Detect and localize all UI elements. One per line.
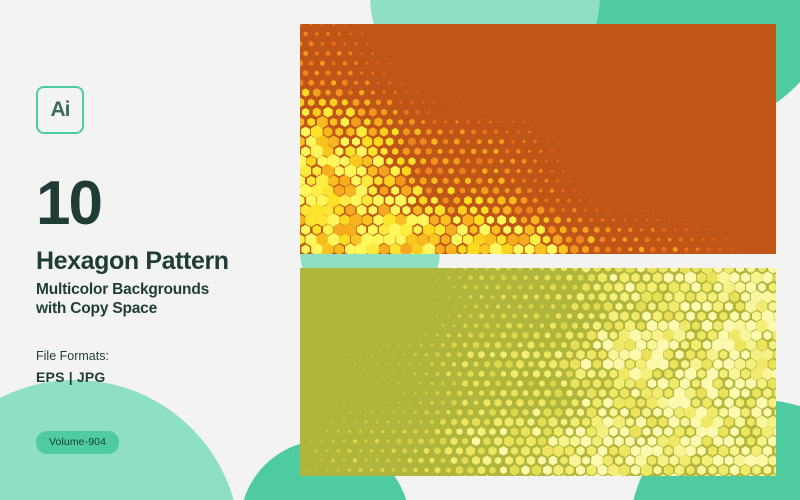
- poster-canvas: Ai 10 Hexagon Pattern Multicolor Backgro…: [0, 0, 800, 500]
- volume-badge: Volume-904: [36, 431, 119, 454]
- page-subtitle: Multicolor Backgrounds with Copy Space: [36, 281, 286, 319]
- illustrator-file-icon-label: Ai: [51, 98, 70, 122]
- hexagon-halftone-olive: [300, 268, 776, 476]
- page-subtitle-line-2: with Copy Space: [36, 300, 286, 319]
- hexagon-pattern-preview-olive: [300, 268, 776, 476]
- file-formats-value: EPS | JPG: [36, 369, 286, 385]
- illustrator-file-icon: Ai: [36, 86, 84, 134]
- page-title: Hexagon Pattern: [36, 248, 286, 274]
- page-subtitle-line-1: Multicolor Backgrounds: [36, 281, 286, 300]
- item-count: 10: [36, 176, 286, 232]
- hexagon-pattern-preview-orange: [300, 24, 776, 254]
- file-formats-label: File Formats:: [36, 349, 286, 363]
- info-column: Ai 10 Hexagon Pattern Multicolor Backgro…: [36, 86, 286, 454]
- hexagon-halftone-orange: [300, 24, 776, 254]
